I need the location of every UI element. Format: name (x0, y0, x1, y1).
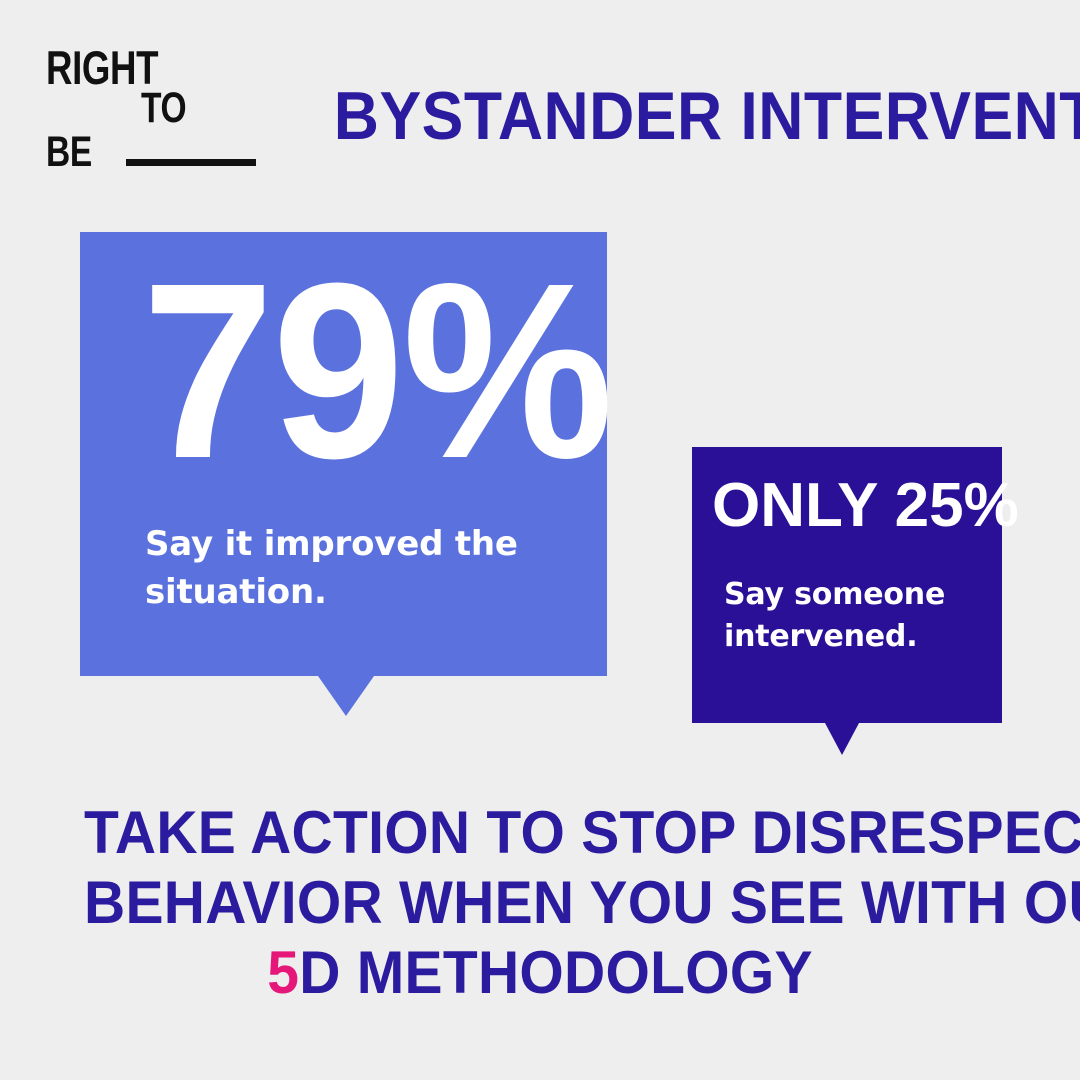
logo-blank-rule (126, 159, 256, 166)
stat-bubble-improved-situation: 79% Say it improved the situation. (80, 232, 607, 676)
stat-bubble-someone-intervened: ONLY 25% Say someone intervened. (692, 447, 1002, 723)
stat-value-79-percent: 79% (142, 240, 612, 503)
speech-bubble-tail-secondary (825, 723, 859, 755)
cta-line-3: 5D METHODOLOGY (84, 938, 996, 1008)
brand-logo: RIGHT TO BE (46, 44, 236, 169)
call-to-action: TAKE ACTION TO STOP DISRESPECTFUL BEHAVI… (60, 798, 1020, 1009)
stat-caption-someone-intervened: Say someone intervened. (724, 574, 974, 658)
speech-bubble-tail-primary (318, 676, 374, 716)
logo-word-be: BE (46, 131, 92, 174)
cta-line-1: TAKE ACTION TO STOP DISRESPECTFUL (84, 798, 996, 868)
cta-accent-5: 5 (267, 939, 299, 1006)
cta-line-2: BEHAVIOR WHEN YOU SEE WITH OUR (84, 868, 996, 938)
logo-word-to: TO (141, 87, 186, 130)
cta-line-3-rest: D METHODOLOGY (299, 939, 813, 1006)
infographic-poster: RIGHT TO BE BYSTANDER INTERVENTION 79% S… (0, 0, 1080, 1080)
stat-value-only-25-percent: ONLY 25% (712, 475, 986, 537)
page-title: BYSTANDER INTERVENTION (334, 84, 996, 149)
stat-caption-improved-situation: Say it improved the situation. (145, 520, 565, 617)
